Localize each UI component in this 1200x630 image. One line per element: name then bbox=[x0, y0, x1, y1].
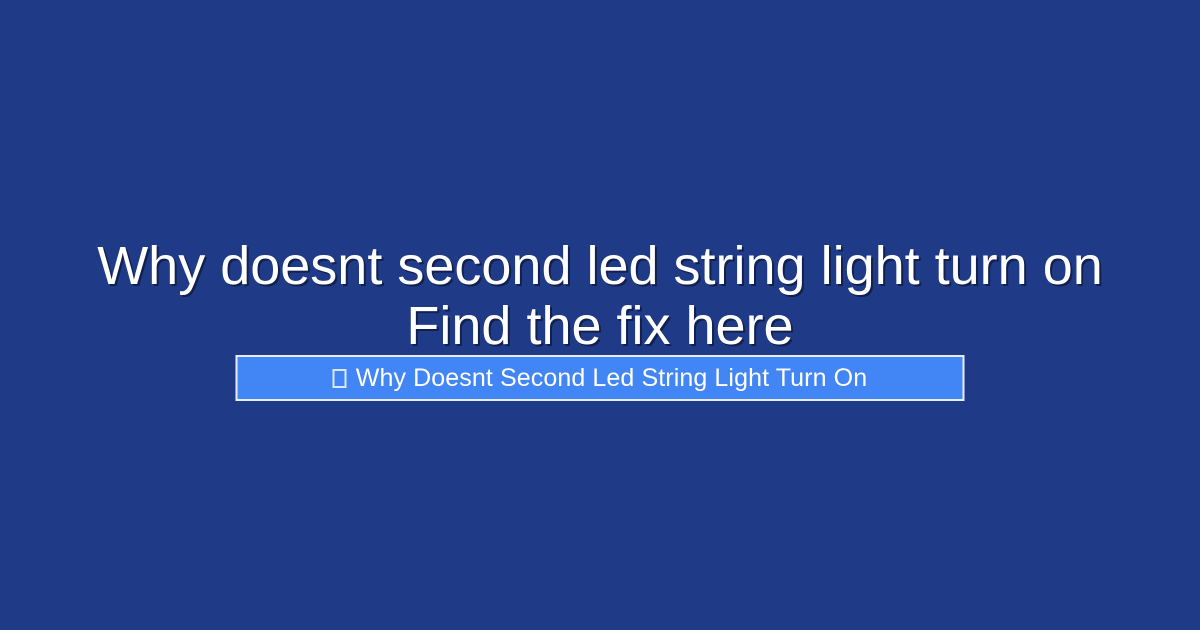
social-share-card: Why doesnt second led string light turn … bbox=[0, 0, 1200, 630]
missing-glyph-box-icon bbox=[333, 369, 347, 388]
cta-container: Why Doesnt Second Led String Light Turn … bbox=[236, 355, 965, 401]
cta-button-label: Why Doesnt Second Led String Light Turn … bbox=[356, 364, 867, 392]
cta-button[interactable]: Why Doesnt Second Led String Light Turn … bbox=[236, 355, 965, 401]
page-title: Why doesnt second led string light turn … bbox=[70, 236, 1130, 356]
